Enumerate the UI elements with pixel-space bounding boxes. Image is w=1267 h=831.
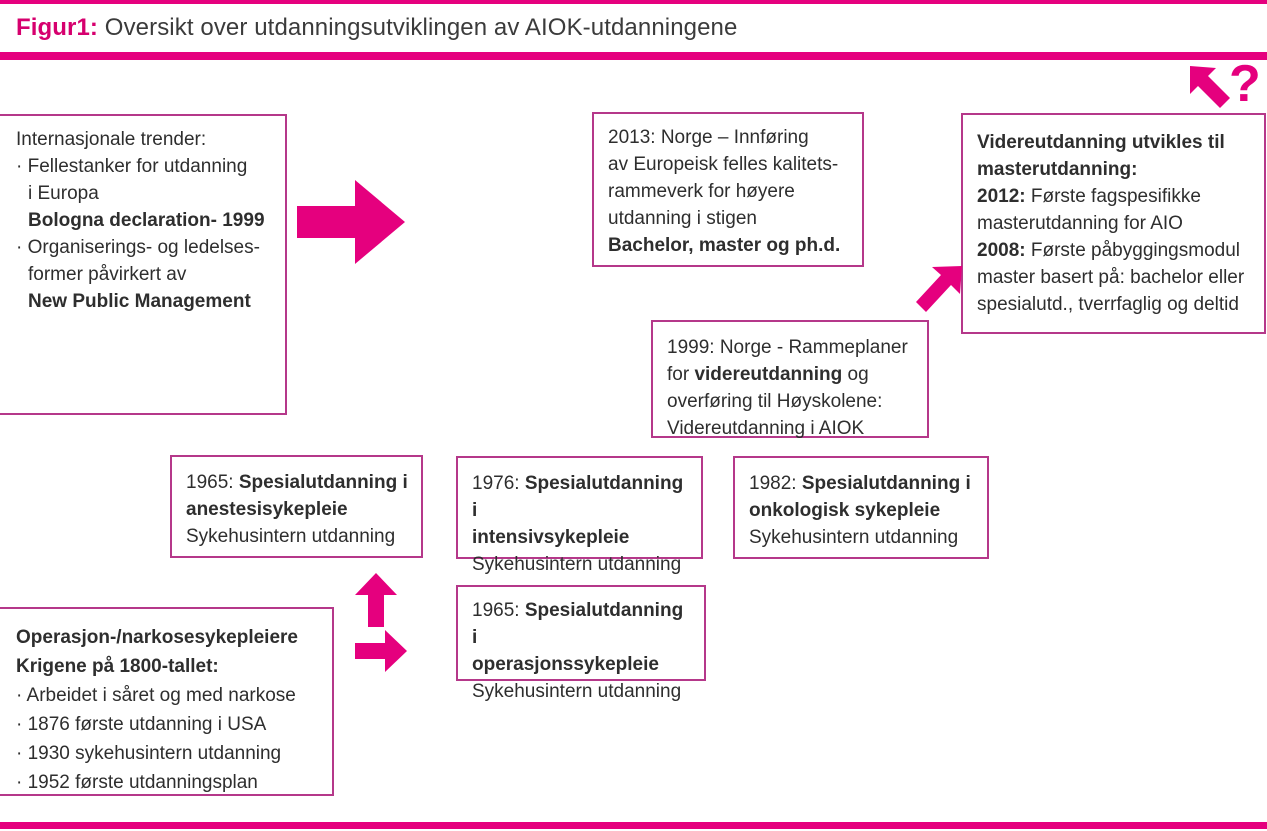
international-bullet-2: · Organiserings- og ledelses- [16, 234, 273, 261]
intensiv-sub: Sykehusintern utdanning [472, 551, 689, 578]
y1999-line2-post: og [842, 364, 868, 385]
y2013-line1: 2013: Norge – Innføring [608, 124, 850, 151]
y1999-line1: 1999: Norge - Rammeplaner [667, 334, 915, 361]
y2013-line4: utdanning i stigen [608, 205, 850, 232]
master-2008-line3: spesialutd., tverrfaglig og deltid [977, 291, 1252, 318]
arrow-up-icon [355, 573, 397, 627]
operasjon-year: 1965: [472, 600, 520, 621]
box-1999-rammeplaner: 1999: Norge - Rammeplaner for videreutda… [651, 320, 929, 438]
arrow-right-icon-small [355, 630, 407, 672]
header-top-rule [0, 0, 1267, 4]
y2013-degrees: Bachelor, master og ph.d. [608, 235, 840, 256]
box-1965-operasjonssykepleie: 1965: Spesialutdanning i operasjonssykep… [456, 585, 706, 681]
box-2013-nkr: 2013: Norge – Innføring av Europeisk fel… [592, 112, 864, 267]
master-2012-year: 2012: [977, 186, 1026, 207]
box-1982-onkologisk-sykepleie: 1982: Spesialutdanning i onkologisk syke… [733, 456, 989, 559]
y1999-videreutdanning: videreutdanning [694, 364, 842, 385]
y1999-line2-pre: for [667, 364, 694, 385]
onkologisk-bold-1: Spesialutdanning i [797, 473, 971, 494]
figure-title-text: Oversikt over utdanningsutviklingen av A… [98, 14, 737, 41]
figure-label: Figur1: [16, 14, 98, 41]
header-bottom-rule [0, 52, 1267, 60]
anestesi-sub: Sykehusintern utdanning [186, 523, 409, 550]
international-bologna: Bologna declaration- 1999 [28, 210, 265, 231]
krigene-bullet-2: · 1876 første utdanning i USA [16, 710, 320, 739]
krigene-heading-line1: Operasjon-/narkosesykepleiere [16, 627, 298, 648]
international-bullet-1-cont: i Europa [16, 180, 273, 207]
footer-rule [0, 822, 1267, 829]
master-heading-line1: Videreutdanning utvikles til [977, 132, 1225, 153]
box-1965-anestesisykepleie: 1965: Spesialutdanning i anestesisykeple… [170, 455, 423, 558]
krigene-bullet-1: · Arbeidet i såret og med narkose [16, 681, 320, 710]
anestesi-bold-2: anestesisykepleie [186, 499, 348, 520]
page-title: Figur1: Oversikt over utdanningsutviklin… [16, 12, 737, 44]
onkologisk-bold-2: onkologisk sykepleie [749, 500, 940, 521]
intensiv-year: 1976: [472, 473, 520, 494]
box-1976-intensivsykepleie: 1976: Spesialutdanning i intensivsykeple… [456, 456, 703, 559]
international-heading: Internasjonale trender: [16, 126, 273, 153]
arrow-right-icon-main [297, 178, 405, 266]
master-2008-text: Første påbyggingsmodul [1026, 240, 1240, 261]
anestesi-bold-1: Spesialutdanning i [234, 472, 408, 493]
y2013-line2: av Europeisk felles kalitets- [608, 151, 850, 178]
international-bullet-1: · Fellestanker for utdanning [16, 153, 273, 180]
operasjon-sub: Sykehusintern utdanning [472, 678, 692, 705]
figure-canvas: Figur1: Oversikt over utdanningsutviklin… [0, 0, 1267, 831]
y1999-line3: overføring til Høyskolene: [667, 388, 915, 415]
krigene-bullet-4: · 1952 første utdanningsplan [16, 768, 320, 797]
onkologisk-sub: Sykehusintern utdanning [749, 524, 975, 551]
master-heading-line2: masterutdanning: [977, 159, 1137, 180]
onkologisk-year: 1982: [749, 473, 797, 494]
y1999-line4: Videreutdanning i AIOK [667, 415, 915, 442]
master-2012-line2: masterutdanning for AIO [977, 210, 1252, 237]
intensiv-bold-2: intensivsykepleie [472, 527, 629, 548]
future-question-mark: ? [1229, 58, 1261, 110]
master-2012-text: Første fagspesifikke [1026, 186, 1201, 207]
box-krigene-1800-tallet: Operasjon-/narkosesykepleiere Krigene på… [0, 607, 334, 796]
box-international-trends: Internasjonale trender: · Fellestanker f… [0, 114, 287, 415]
master-2008-year: 2008: [977, 240, 1026, 261]
y2013-line3: rammeverk for høyere [608, 178, 850, 205]
krigene-bullet-3: · 1930 sykehusintern utdanning [16, 739, 320, 768]
anestesi-year: 1965: [186, 472, 234, 493]
box-master-education: Videreutdanning utvikles til masterutdan… [961, 113, 1266, 334]
krigene-heading-line2: Krigene på 1800-tallet: [16, 656, 219, 677]
operasjon-bold-2: operasjonssykepleie [472, 654, 659, 675]
international-bullet-2-cont: former påvirkert av [16, 261, 273, 288]
master-2008-line2: master basert på: bachelor eller [977, 264, 1252, 291]
arrow-up-right-icon [906, 262, 968, 324]
international-npm: New Public Management [28, 291, 251, 312]
